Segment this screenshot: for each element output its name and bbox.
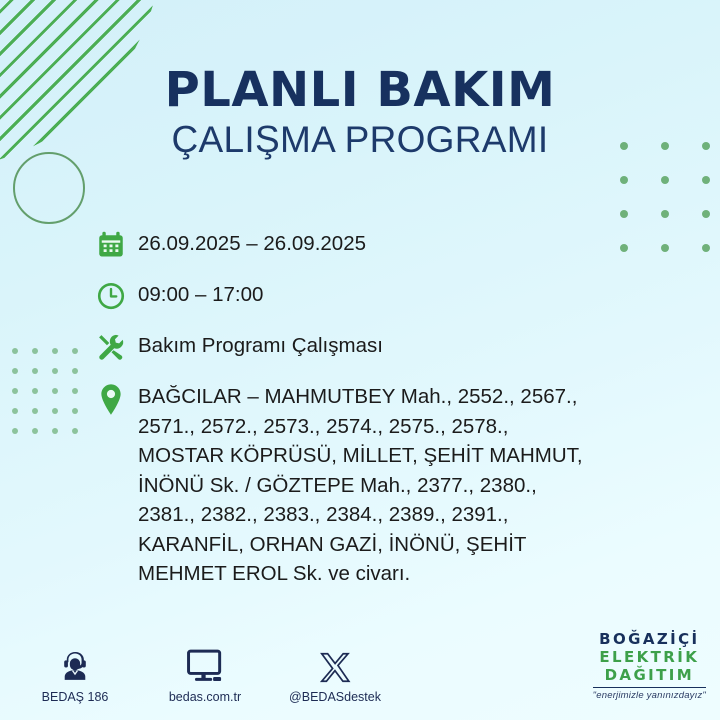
calendar-icon [96,228,138,262]
dot-grid-left-decoration [12,348,78,434]
poster-header: PLANLI BAKIM ÇALIŞMA PROGRAMI [0,66,720,160]
brand-line-dagitim: DAĞITIM [593,668,706,683]
contact-social[interactable]: @BEDASdestek [288,644,382,704]
contact-phone-label: BEDAŞ 186 [28,690,122,704]
detail-row-date: 26.09.2025 – 26.09.2025 [96,228,676,262]
address-text: BAĞCILAR – MAHMUTBEY Mah., 2552., 2567.,… [138,381,583,589]
detail-row-work-type: Bakım Programı Çalışması [96,330,676,364]
contact-social-label: @BEDASdestek [288,690,382,704]
detail-row-address: BAĞCILAR – MAHMUTBEY Mah., 2552., 2567.,… [96,381,676,589]
brand-tagline: "enerjimizle yanınızdayız" [593,691,706,701]
x-social-icon [288,644,382,684]
brand-divider [593,687,706,688]
date-range-text: 26.09.2025 – 26.09.2025 [138,228,366,255]
page-title: PLANLI BAKIM [0,66,720,114]
brand-line-elektrik: ELEKTRİK [593,650,706,665]
contact-phone[interactable]: BEDAŞ 186 [28,644,122,704]
bedas-logo: BOĞAZİÇİ ELEKTRİK DAĞITIM "enerjimizle y… [593,632,706,701]
circle-outline-decoration [13,152,85,224]
contact-website-label: bedas.com.tr [158,690,252,704]
detail-row-time: 09:00 – 17:00 [96,279,676,313]
location-pin-icon [96,381,138,417]
planned-maintenance-poster: PLANLI BAKIM ÇALIŞMA PROGRAMI [0,0,720,720]
page-subtitle: ÇALIŞMA PROGRAMI [0,121,720,160]
contact-channels: BEDAŞ 186 bedas.com.tr [28,644,382,704]
contact-website[interactable]: bedas.com.tr [158,644,252,704]
maintenance-details: 26.09.2025 – 26.09.2025 09:00 – 17:00 Ba… [96,228,676,589]
headset-operator-icon [28,644,122,684]
time-range-text: 09:00 – 17:00 [138,279,263,306]
monitor-icon [158,644,252,684]
tools-icon [96,330,138,364]
work-type-text: Bakım Programı Çalışması [138,330,383,357]
brand-line-bogazici: BOĞAZİÇİ [593,632,706,647]
poster-footer: BEDAŞ 186 bedas.com.tr [0,630,720,704]
clock-icon [96,279,138,313]
